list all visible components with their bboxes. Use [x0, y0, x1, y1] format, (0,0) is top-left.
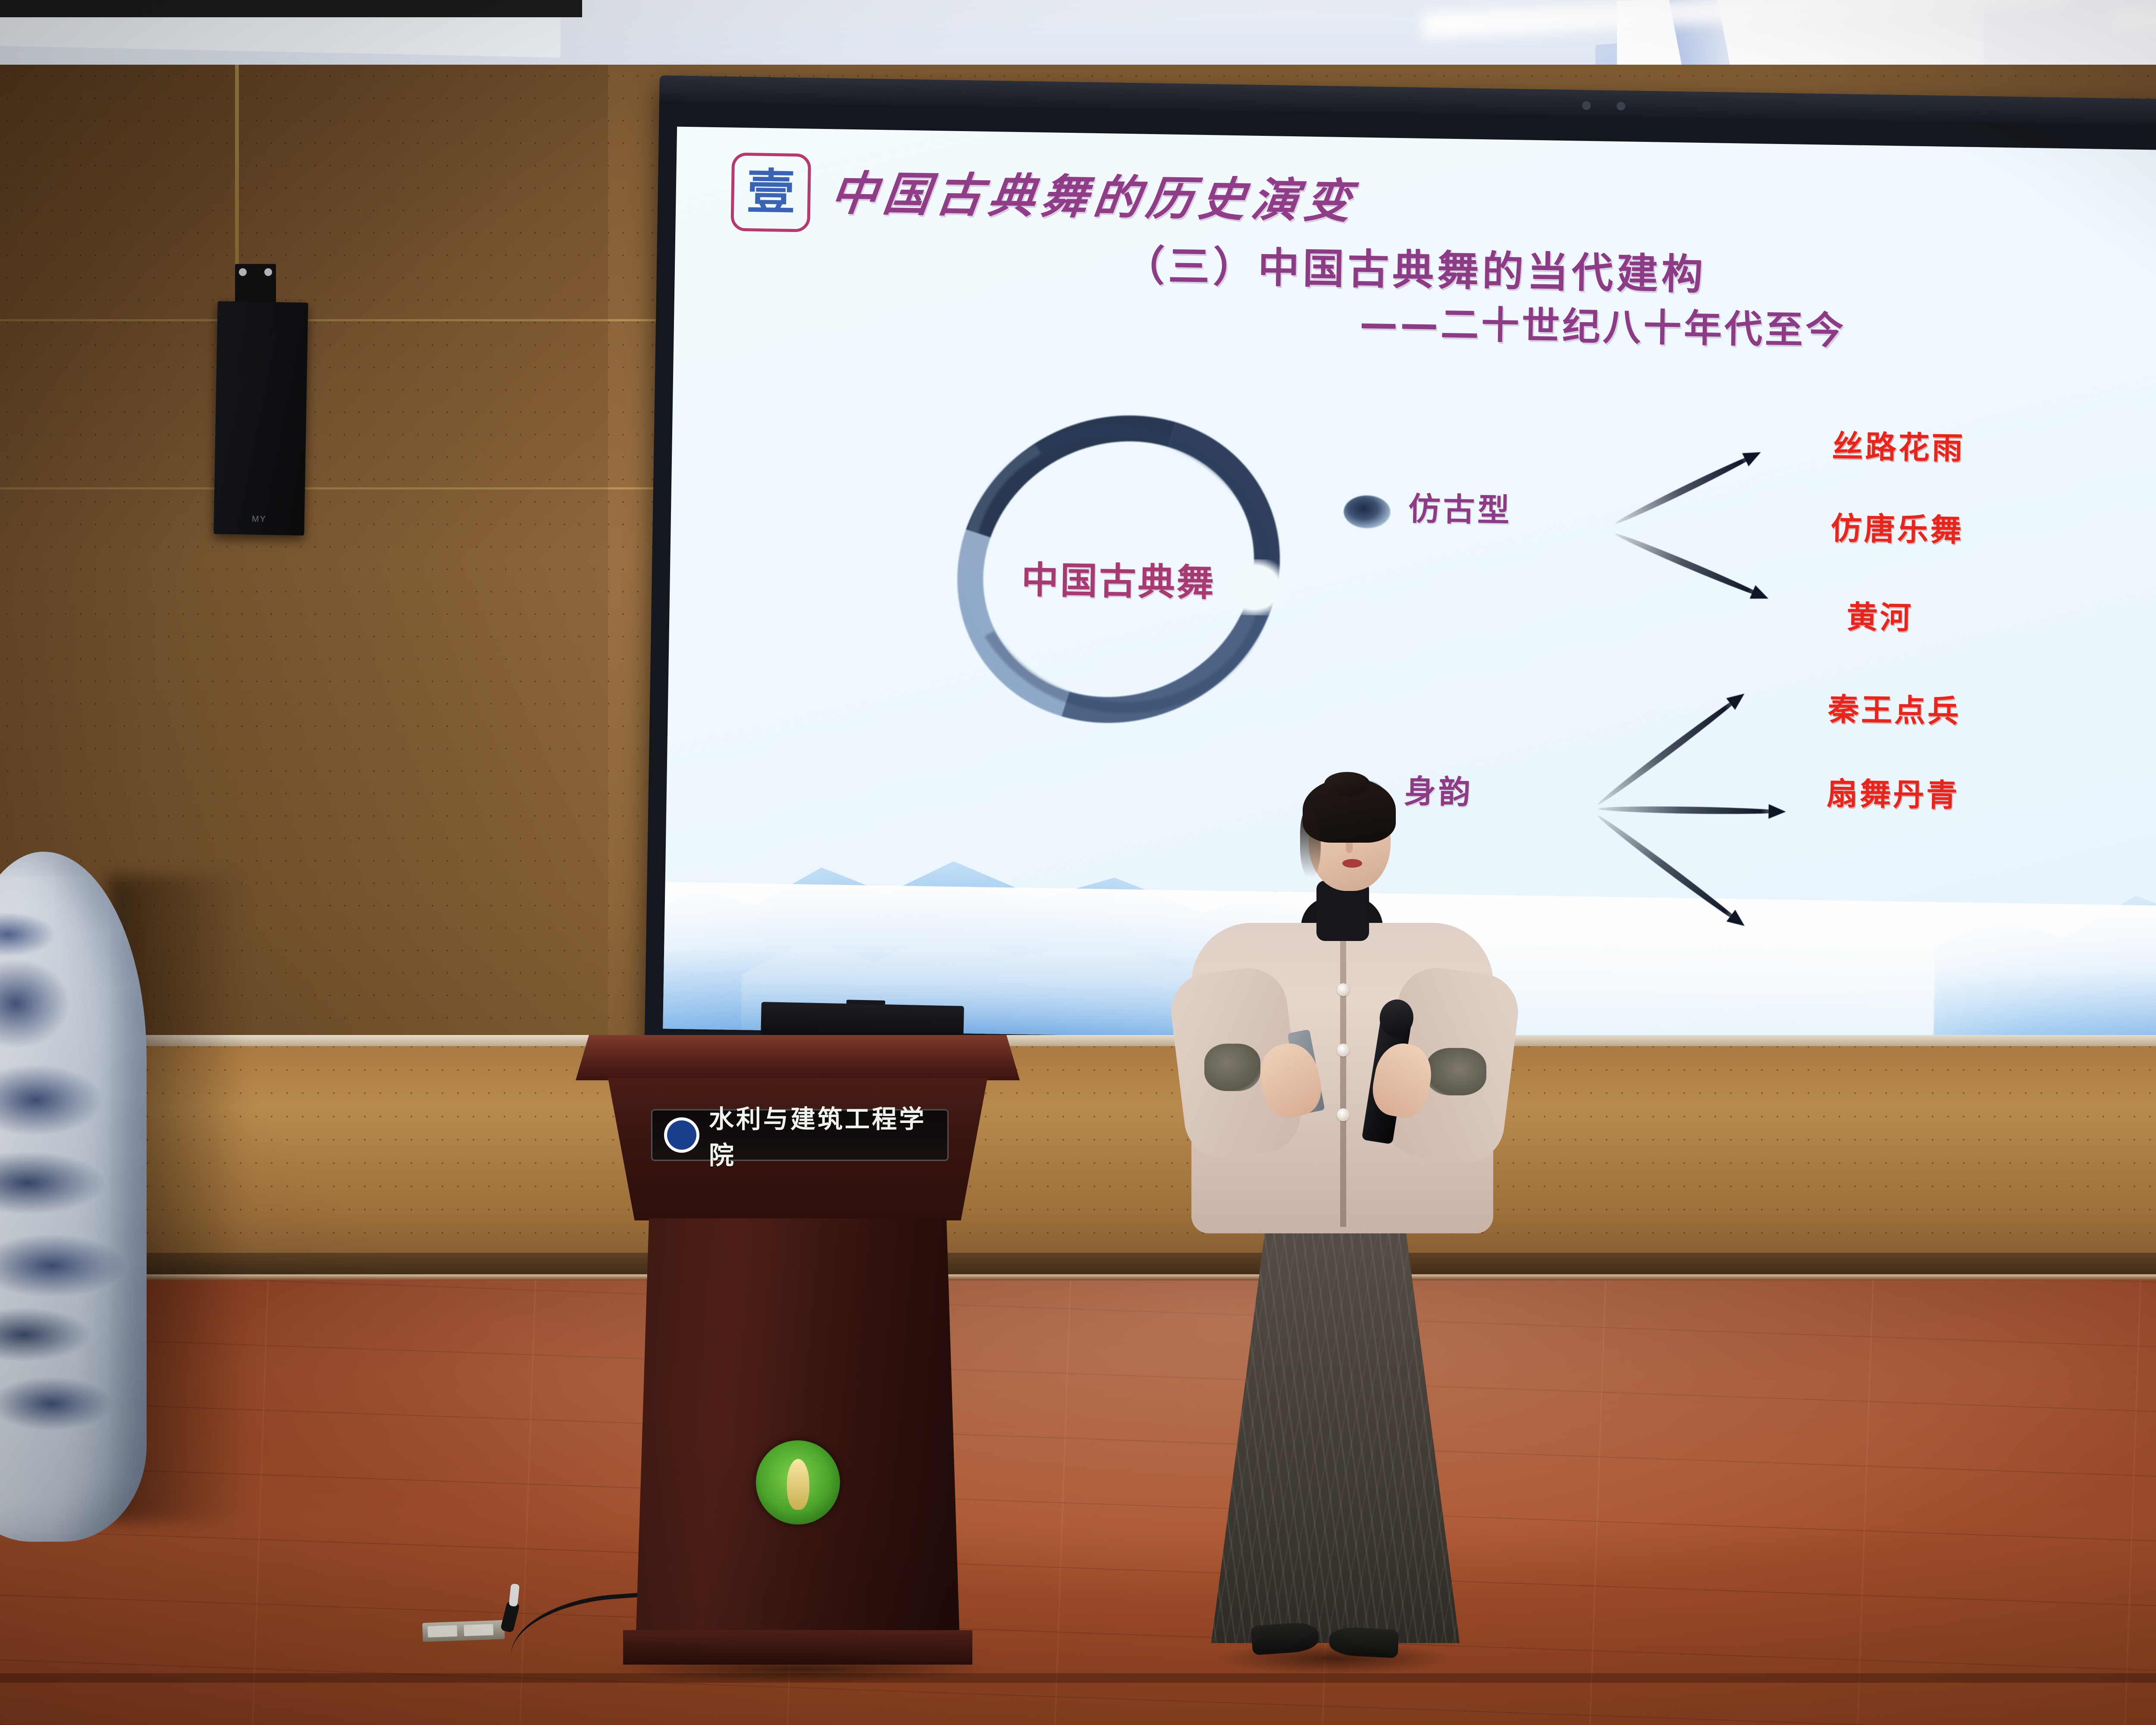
- coat-motif-right: [1426, 1048, 1486, 1095]
- coat-button: [1337, 1044, 1350, 1057]
- vase-landscape-painting: [0, 852, 147, 1542]
- wainscot-panel: [0, 1035, 2156, 1276]
- podium-base: [623, 1630, 972, 1665]
- speaker-logo: MY: [252, 514, 266, 525]
- coat-motif-left: [1204, 1044, 1260, 1091]
- ceiling-dark-edge: [0, 0, 582, 17]
- speaker-bracket: [235, 264, 276, 305]
- node-dot-1: [1344, 495, 1391, 529]
- arrow-4: [1598, 805, 1783, 815]
- item-label-1: 丝路花雨: [1832, 421, 1965, 468]
- section-number-glyph: 壹: [746, 168, 796, 217]
- podium-monitor[interactable]: [761, 1002, 964, 1041]
- wainscot-cap: [0, 1035, 2156, 1046]
- podium-plate-text: 水利与建筑工程学院: [709, 1099, 949, 1171]
- podium-body: [636, 1218, 959, 1632]
- item-label-5: 扇舞丹青: [1826, 768, 1960, 815]
- coat-button: [1337, 1108, 1350, 1121]
- branch-label-1: 仿古型: [1408, 483, 1513, 531]
- arrow-1: [1614, 450, 1760, 527]
- item-label-2: 仿唐乐舞: [1830, 503, 1964, 550]
- presenter: [1179, 768, 1507, 1721]
- presenter-mouth: [1342, 859, 1362, 868]
- nameplate-emblem-icon: [664, 1117, 699, 1153]
- stage-edge: [0, 1274, 2156, 1280]
- coat-placket: [1340, 925, 1346, 1227]
- arrow-3: [1596, 693, 1745, 807]
- item-label-4: 秦王点兵: [1828, 684, 1962, 731]
- university-emblem: [756, 1440, 840, 1524]
- section-number-seal: 壹: [730, 153, 811, 232]
- item-label-3: 黄河: [1846, 591, 1914, 637]
- floor-seam: [0, 1673, 2156, 1683]
- porcelain-vase: [0, 852, 147, 1542]
- wall-speaker: MY: [213, 301, 308, 536]
- presenter-hair-bun: [1324, 772, 1370, 796]
- podium: 水利与建筑工程学院: [576, 1035, 1020, 1695]
- slide-title: 中国古典舞的历史演变: [827, 156, 1361, 231]
- floor-outlet[interactable]: [422, 1620, 505, 1642]
- podium-top: [576, 1035, 1020, 1080]
- podium-nameplate: 水利与建筑工程学院: [651, 1109, 949, 1161]
- enso-circle: 中国古典舞: [953, 416, 1285, 723]
- lecture-hall-scene: MY 壹: [0, 0, 2156, 1725]
- coat-button: [1337, 983, 1350, 996]
- arrow-2: [1614, 531, 1767, 601]
- slide-date-range: ——二十世纪八十年代至今: [1359, 293, 1846, 355]
- slide-subtitle: （三）中国古典舞的当代建构: [1123, 232, 1707, 301]
- vase-body: [0, 852, 147, 1542]
- floor-reflection: [0, 1276, 2156, 1725]
- enso-label: 中国古典舞: [954, 549, 1283, 608]
